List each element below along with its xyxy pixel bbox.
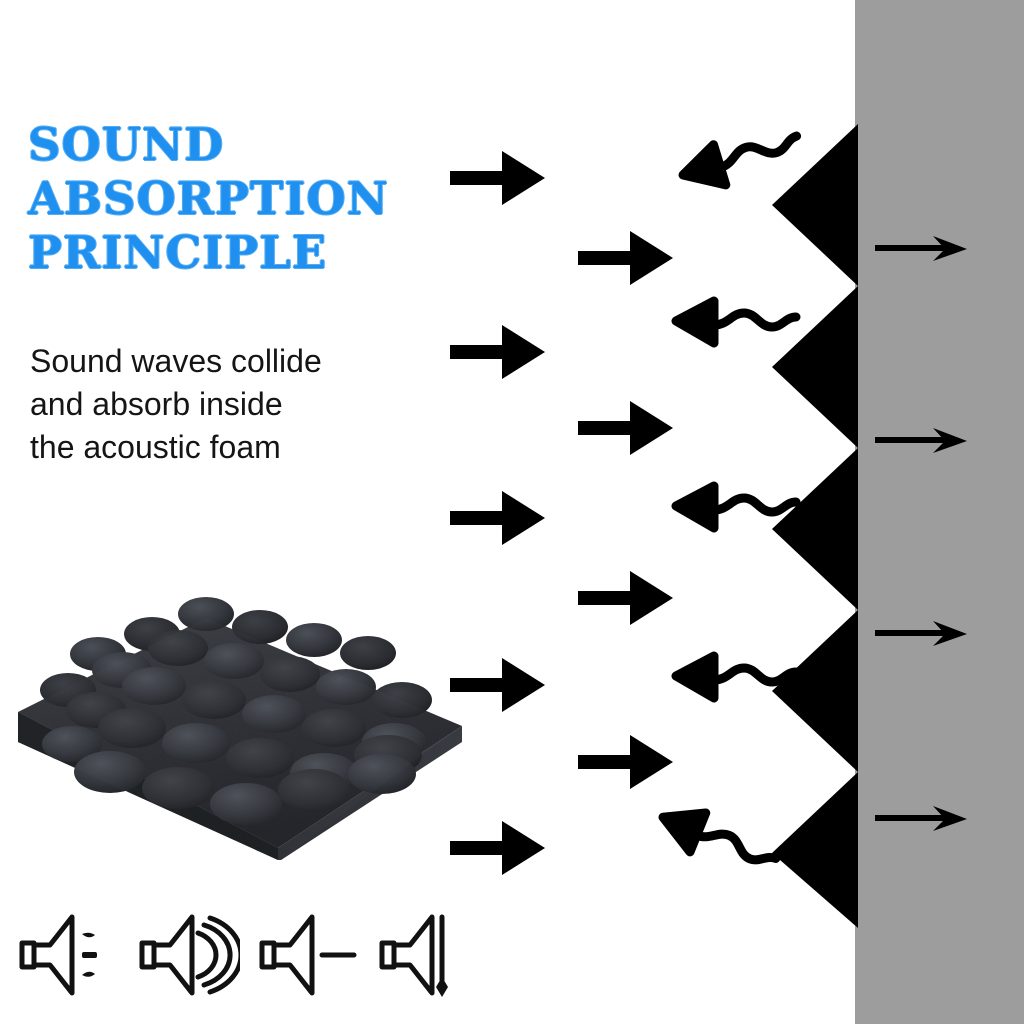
wall-panel — [855, 0, 1024, 1024]
reflected-sound-arrow — [677, 119, 805, 198]
title-line-2: ABSORPTION — [28, 172, 458, 226]
speaker-line-icon — [254, 905, 360, 1005]
description-line-1: Sound waves collide — [30, 340, 430, 383]
reflected-sound-arrow-group — [654, 119, 805, 885]
poster-canvas: SOUND ABSORPTION PRINCIPLE Sound waves c… — [0, 0, 1024, 1024]
speaker-bar-icon — [374, 905, 480, 1005]
title-line-1: SOUND — [28, 118, 458, 172]
description-line-2: and absorb inside — [30, 383, 430, 426]
acoustic-foam-wedge-profile — [772, 124, 858, 928]
page-title: SOUND ABSORPTION PRINCIPLE — [28, 118, 458, 280]
speaker-dashes-icon — [14, 905, 120, 1005]
incoming-sound-arrow — [578, 401, 673, 455]
incoming-sound-arrow — [450, 151, 545, 205]
product-photo-acoustic-foam — [10, 530, 470, 860]
description-line-3: the acoustic foam — [30, 426, 430, 469]
description-text: Sound waves collide and absorb inside th… — [30, 340, 430, 469]
incoming-sound-arrow — [578, 231, 673, 285]
title-line-3: PRINCIPLE — [28, 226, 458, 280]
incoming-sound-arrow — [578, 571, 673, 625]
speaker-waves-icon — [134, 905, 240, 1005]
incoming-sound-arrow-group-b — [578, 231, 673, 789]
speaker-icon-row — [14, 900, 474, 1010]
reflected-sound-arrow — [676, 299, 796, 345]
incoming-sound-arrow — [450, 325, 545, 379]
reflected-sound-arrow — [676, 484, 796, 530]
reflected-sound-arrow — [654, 797, 782, 885]
incoming-sound-arrow — [578, 735, 673, 789]
